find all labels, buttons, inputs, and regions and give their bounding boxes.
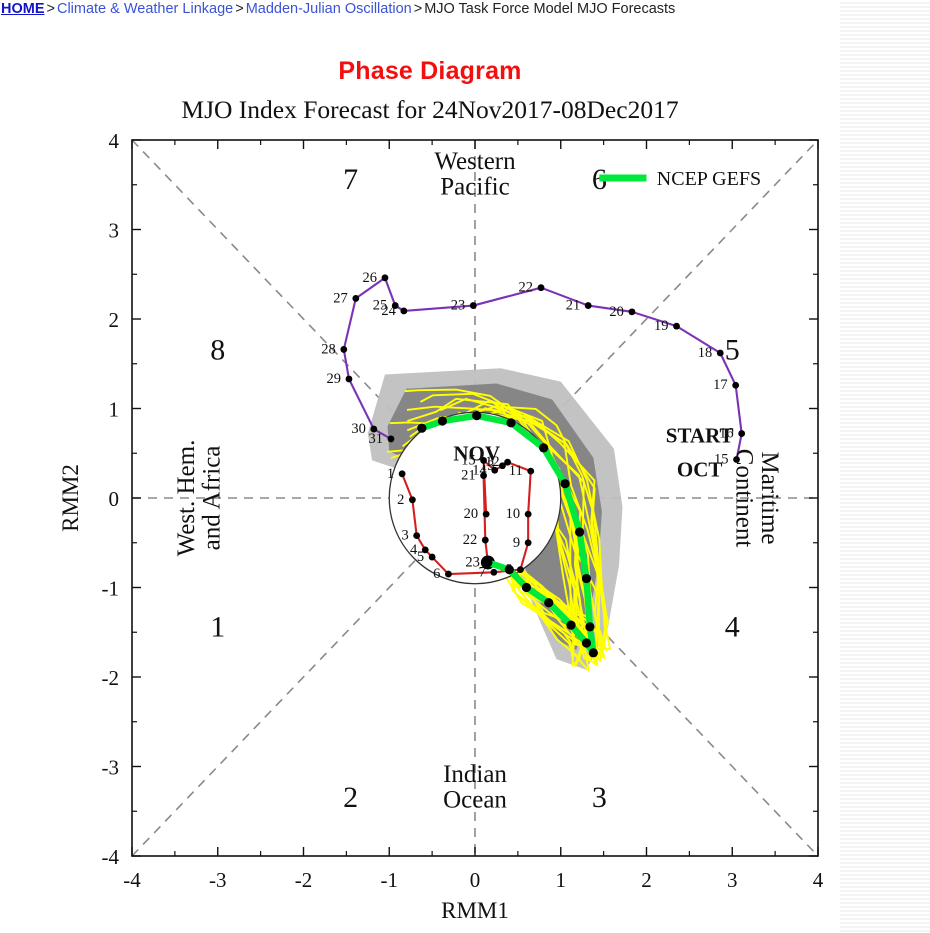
svg-text:-3: -3: [102, 756, 120, 780]
svg-text:23: 23: [465, 554, 480, 570]
svg-text:4: 4: [725, 611, 740, 644]
svg-text:-2: -2: [295, 868, 313, 892]
svg-text:MaritimeContinent: MaritimeContinent: [731, 449, 784, 548]
svg-text:18: 18: [698, 345, 713, 361]
svg-text:23: 23: [451, 298, 466, 314]
svg-text:3: 3: [401, 528, 408, 544]
svg-text:5: 5: [417, 549, 424, 565]
svg-text:19: 19: [654, 318, 669, 334]
svg-text:20: 20: [464, 506, 479, 522]
svg-text:26: 26: [362, 270, 377, 286]
svg-text:10: 10: [506, 506, 521, 522]
svg-text:5: 5: [725, 333, 740, 366]
svg-text:-4: -4: [102, 845, 120, 869]
svg-text:0: 0: [470, 868, 481, 892]
svg-text:21: 21: [461, 468, 476, 484]
svg-text:NCEP GEFS: NCEP GEFS: [657, 168, 761, 190]
svg-text:WesternPacific: WesternPacific: [434, 148, 516, 201]
svg-text:West. Hem.and Africa: West. Hem.and Africa: [173, 440, 226, 557]
svg-text:20: 20: [609, 304, 624, 320]
svg-text:NOV: NOV: [453, 441, 500, 465]
svg-text:4: 4: [109, 129, 120, 153]
svg-text:6: 6: [433, 566, 440, 582]
svg-text:31: 31: [368, 431, 383, 447]
svg-text:-3: -3: [209, 868, 227, 892]
svg-text:3: 3: [727, 868, 738, 892]
svg-text:START: START: [666, 424, 734, 448]
svg-text:-2: -2: [102, 666, 120, 690]
svg-text:17: 17: [713, 377, 728, 393]
mjo-phase-diagram: 1516171819202122232425262728293031 12345…: [0, 0, 930, 933]
svg-text:1: 1: [556, 868, 567, 892]
svg-text:11: 11: [509, 463, 523, 479]
svg-text:RMM2: RMM2: [58, 464, 83, 532]
svg-text:0: 0: [109, 487, 120, 511]
svg-text:25: 25: [373, 298, 388, 314]
svg-text:OCT: OCT: [677, 458, 723, 482]
svg-text:22: 22: [519, 280, 534, 296]
svg-text:30: 30: [351, 421, 366, 437]
svg-text:1: 1: [109, 398, 120, 422]
svg-text:2: 2: [397, 492, 404, 508]
svg-text:1: 1: [387, 466, 394, 482]
svg-text:7: 7: [343, 163, 358, 196]
svg-text:28: 28: [321, 341, 336, 357]
svg-text:4: 4: [813, 868, 824, 892]
svg-text:RMM1: RMM1: [441, 898, 509, 923]
svg-text:IndianOcean: IndianOcean: [443, 761, 507, 814]
svg-text:2: 2: [641, 868, 652, 892]
svg-text:29: 29: [326, 371, 341, 387]
svg-text:3: 3: [592, 781, 607, 814]
svg-text:-4: -4: [123, 868, 141, 892]
svg-text:1: 1: [210, 611, 225, 644]
svg-text:22: 22: [463, 532, 478, 548]
svg-text:2: 2: [343, 781, 358, 814]
svg-text:-1: -1: [381, 868, 399, 892]
svg-text:21: 21: [566, 298, 581, 314]
svg-text:-1: -1: [102, 577, 120, 601]
svg-text:27: 27: [333, 290, 348, 306]
svg-text:2: 2: [109, 308, 120, 332]
svg-text:8: 8: [210, 333, 225, 366]
svg-text:3: 3: [109, 219, 120, 243]
svg-text:9: 9: [513, 535, 520, 551]
